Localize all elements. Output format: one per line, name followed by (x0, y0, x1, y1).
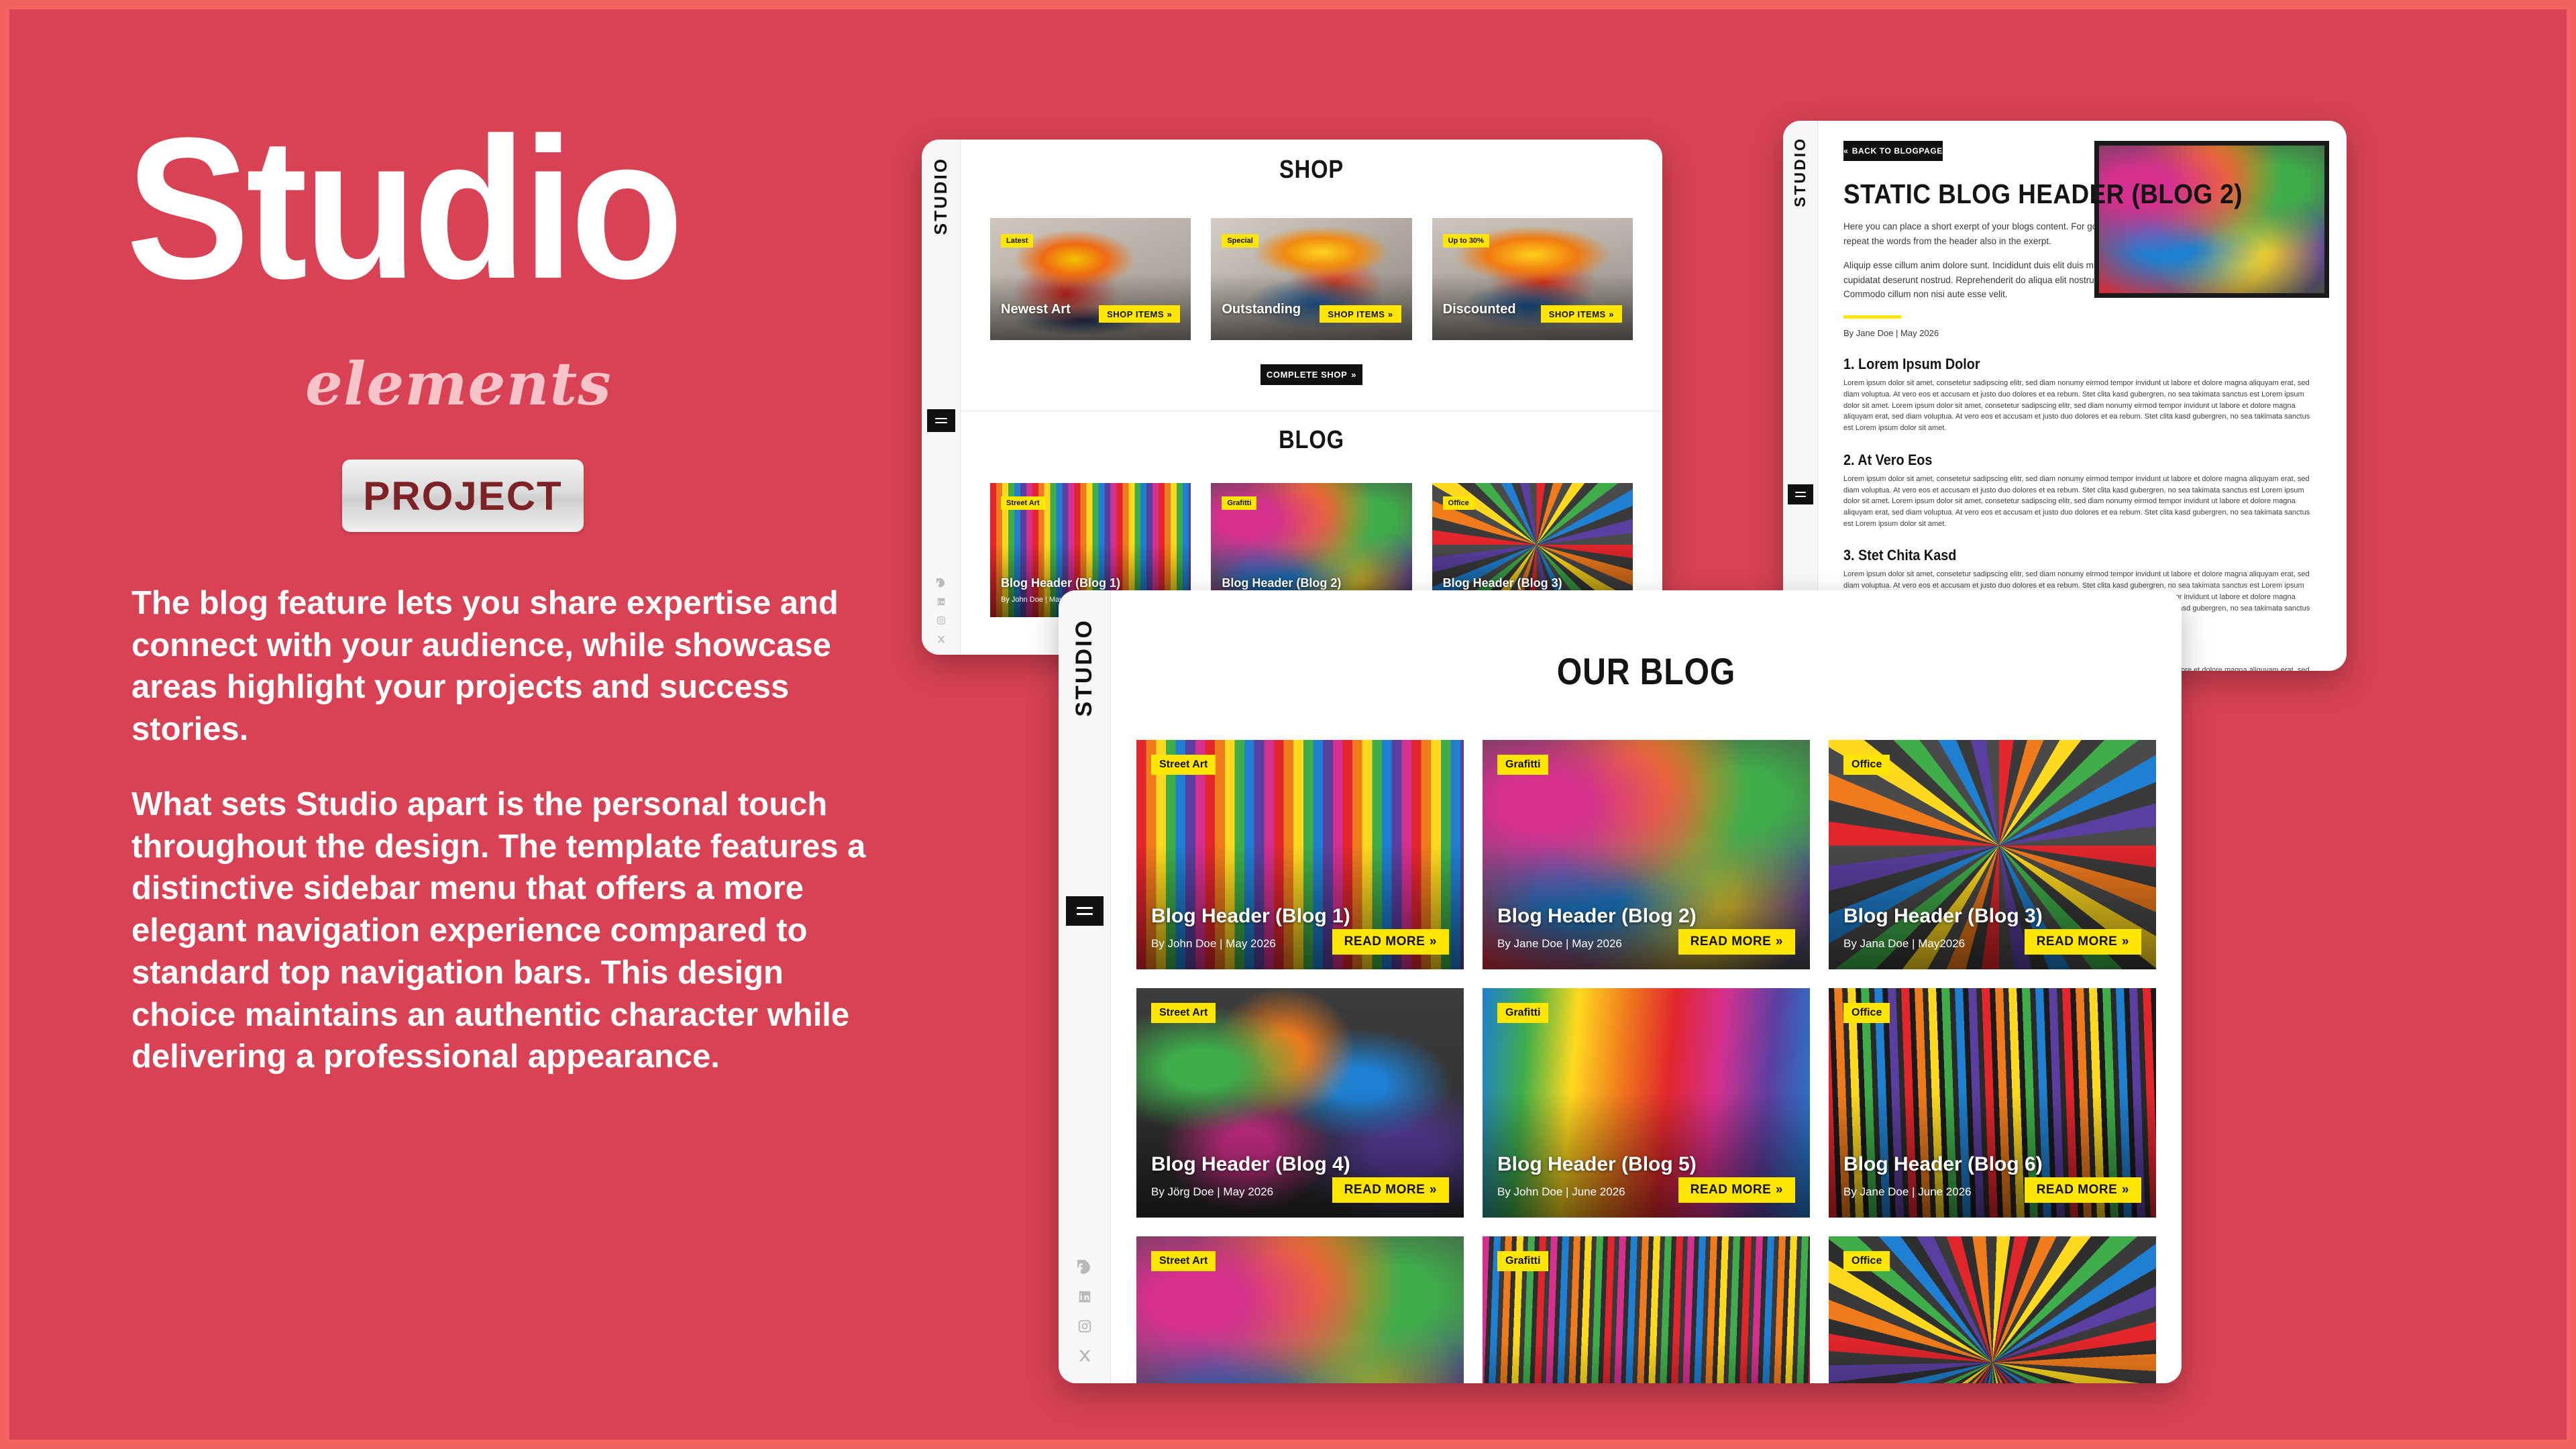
section-divider (961, 411, 1662, 411)
blog-card-meta: By Jane Doe | May 2026 (1497, 937, 1622, 951)
read-more-button[interactable]: READ MORE » (2025, 1177, 2141, 1203)
sidebar-brand: STUDIO (1071, 619, 1097, 716)
shop-browser-window: STUDIO SHOP Latest Newest Art SHOP ITEMS… (922, 140, 1662, 655)
chevron-right-icon: » (1776, 1183, 1783, 1197)
read-more-button[interactable]: READ MORE » (1678, 1177, 1795, 1203)
facebook-icon[interactable] (936, 578, 946, 588)
blog-card-title: Blog Header (Blog 1) (1151, 905, 1350, 928)
blog-card-tag: Street Art (1151, 755, 1216, 775)
chevron-right-icon: » (1776, 934, 1783, 949)
article-byline: By Jane Doe | May 2026 (1843, 328, 2321, 338)
blog-card-title: Blog Header (Blog 4) (1151, 1153, 1350, 1176)
blog-card-tag: Street Art (1001, 496, 1045, 510)
blog-card-tag: Office (1843, 1003, 1890, 1023)
blog-card-tag: Grafitti (1497, 1003, 1548, 1023)
hero-paragraph-1: The blog feature lets you share expertis… (131, 582, 876, 751)
shop-card[interactable]: Special Outstanding SHOP ITEMS » (1211, 218, 1411, 340)
instagram-icon[interactable] (1077, 1319, 1092, 1334)
article-section-body: Lorem ipsum dolor sit amet, consetetur s… (1843, 378, 2321, 434)
chevron-right-icon: » (1351, 370, 1356, 380)
instagram-icon[interactable] (936, 616, 946, 625)
article-section-heading: 1. Lorem Ipsum Dolor (1843, 356, 2273, 373)
chevron-right-icon: » (2122, 934, 2129, 949)
x-icon[interactable] (1077, 1348, 1092, 1363)
shop-card-title: Newest Art (1001, 302, 1071, 317)
blog-card-tag: Grafitti (1222, 496, 1256, 510)
our-blog-section-title: OUR BLOG (1186, 649, 2107, 693)
shop-card-title: Outstanding (1222, 302, 1301, 317)
blog-card[interactable]: Street Art (1136, 1236, 1464, 1383)
blog-card[interactable]: Grafitti (1483, 1236, 1810, 1383)
shop-items-label: SHOP ITEMS (1107, 309, 1164, 319)
chevron-right-icon: » (1167, 309, 1173, 319)
blog-card-meta: By John Doe | June 2026 (1497, 1185, 1625, 1199)
read-more-label: READ MORE (1690, 934, 1772, 949)
hamburger-icon[interactable] (927, 409, 955, 432)
hero-panel: Studio elements PROJECT The blog feature… (0, 0, 939, 1449)
shop-card-tag: Special (1222, 234, 1258, 248)
brand-subtitle: elements (305, 349, 612, 419)
blog-card-title: Blog Header (Blog 2) (1497, 905, 1697, 928)
social-links (936, 578, 946, 644)
sidebar: STUDIO (922, 140, 961, 655)
blog-card-tag: Street Art (1151, 1003, 1216, 1023)
sidebar-brand: STUDIO (1791, 137, 1809, 207)
blog-card[interactable]: Street Art Blog Header (Blog 4) By Jörg … (1136, 988, 1464, 1218)
article-hero-image (2094, 141, 2329, 298)
read-more-button[interactable]: READ MORE » (1332, 929, 1449, 955)
article-section: 2. At Vero Eos Lorem ipsum dolor sit ame… (1843, 451, 2321, 530)
blog-card-meta: By John Doe | May 2026 (1151, 937, 1276, 951)
blog-card-title: Blog Header (Blog 6) (1843, 1153, 2043, 1176)
article-section-body: Lorem ipsum dolor sit amet, consetetur s… (1843, 474, 2321, 530)
chevron-right-icon: » (1388, 309, 1393, 319)
read-more-button[interactable]: READ MORE » (1332, 1177, 1449, 1203)
blog-card-tag: Grafitti (1497, 755, 1548, 775)
blog-card-meta: By Jörg Doe | May 2026 (1151, 1185, 1273, 1199)
blog-card-tag: Office (1443, 496, 1474, 510)
shop-card-tag: Up to 30% (1443, 234, 1489, 248)
linkedin-icon[interactable] (936, 597, 946, 606)
chevron-right-icon: » (2122, 1183, 2129, 1197)
read-more-label: READ MORE (1344, 934, 1426, 949)
complete-shop-button[interactable]: COMPLETE SHOP » (1260, 364, 1362, 385)
blog-card-tag: Grafitti (1497, 1251, 1548, 1271)
blog-card[interactable]: Office Blog Header (Blog 3) By Jana Doe … (1829, 740, 2156, 969)
shop-items-button[interactable]: SHOP ITEMS » (1320, 305, 1401, 323)
shop-card-title: Discounted (1443, 302, 1516, 317)
shop-items-label: SHOP ITEMS (1328, 309, 1385, 319)
shop-section-title: SHOP (1010, 156, 1613, 184)
blog-card-title: Blog Header (Blog 2) (1222, 576, 1341, 590)
article-section-heading: 3. Stet Chita Kasd (1843, 547, 2273, 564)
chevron-right-icon: » (1430, 934, 1437, 949)
chevron-right-icon: » (1609, 309, 1614, 319)
shop-items-button[interactable]: SHOP ITEMS » (1541, 305, 1622, 323)
blog-card-meta: By Jane Doe | June 2026 (1843, 1185, 1972, 1199)
read-more-button[interactable]: READ MORE » (1678, 929, 1795, 955)
blog-card-title: Blog Header (Blog 3) (1843, 905, 2043, 928)
static-blog-browser-window: STUDIO « BACK TO BLOGPAGE STATIC BLOG HE… (1783, 121, 2347, 671)
read-more-label: READ MORE (1690, 1183, 1772, 1197)
shop-card[interactable]: Latest Newest Art SHOP ITEMS » (990, 218, 1191, 340)
blog-section-title: BLOG (1010, 426, 1613, 455)
sidebar-brand: STUDIO (930, 157, 951, 235)
read-more-label: READ MORE (2037, 1183, 2118, 1197)
blog-card-tag: Office (1843, 755, 1890, 775)
static-blog-page: « BACK TO BLOGPAGE STATIC BLOG HEADER (B… (1818, 121, 2347, 671)
brand-title: Studio (126, 113, 680, 304)
sidebar: STUDIO (1059, 590, 1111, 1383)
chevron-left-icon: « (1843, 146, 1848, 156)
blog-card-meta: By Jana Doe | May2026 (1843, 937, 1965, 951)
blog-card[interactable]: Grafitti Blog Header (Blog 5) By John Do… (1483, 988, 1810, 1218)
read-more-button[interactable]: READ MORE » (2025, 929, 2141, 955)
hero-paragraph-2: What sets Studio apart is the personal t… (131, 784, 876, 1078)
social-links (1077, 1260, 1092, 1363)
blog-card[interactable]: Office Blog Header (Blog 6) By Jane Doe … (1829, 988, 2156, 1218)
back-button-label: BACK TO BLOGPAGE (1852, 146, 1943, 156)
shop-card-tag: Latest (1001, 234, 1033, 248)
shop-card[interactable]: Up to 30% Discounted SHOP ITEMS » (1432, 218, 1633, 340)
blog-card-title: Blog Header (Blog 1) (1001, 576, 1120, 590)
article-section: 1. Lorem Ipsum Dolor Lorem ipsum dolor s… (1843, 356, 2321, 434)
read-more-label: READ MORE (2037, 934, 2118, 949)
complete-shop-label: COMPLETE SHOP (1267, 370, 1347, 380)
hamburger-icon[interactable] (1788, 484, 1813, 504)
shop-card-row: Latest Newest Art SHOP ITEMS » Special O… (961, 218, 1662, 340)
back-to-blogpage-button[interactable]: « BACK TO BLOGPAGE (1843, 141, 1943, 161)
our-blog-browser-window: STUDIO OUR BLOG Street Art Blog Header (… (1059, 590, 2182, 1383)
blog-card-title: Blog Header (Blog 5) (1497, 1153, 1697, 1176)
blog-card-grid: Street Art Blog Header (Blog 1) By John … (1111, 740, 2182, 1383)
project-badge: PROJECT (342, 460, 584, 532)
blog-card-tag: Office (1843, 1251, 1890, 1271)
blog-card[interactable]: Office (1829, 1236, 2156, 1383)
facebook-icon[interactable] (1077, 1260, 1092, 1275)
chevron-right-icon: » (1430, 1183, 1437, 1197)
linkedin-icon[interactable] (1077, 1289, 1092, 1304)
sidebar: STUDIO (1783, 121, 1818, 671)
project-badge-label: PROJECT (363, 473, 562, 519)
blog-card-tag: Street Art (1151, 1251, 1216, 1271)
our-blog-page: OUR BLOG Street Art Blog Header (Blog 1)… (1111, 590, 2182, 1383)
blog-card-title: Blog Header (Blog 3) (1443, 576, 1562, 590)
read-more-label: READ MORE (1344, 1183, 1426, 1197)
accent-rule (1843, 315, 1901, 319)
x-icon[interactable] (936, 635, 946, 644)
blog-card[interactable]: Street Art Blog Header (Blog 1) By John … (1136, 740, 1464, 969)
article-section-heading: 2. At Vero Eos (1843, 451, 2273, 469)
shop-items-button[interactable]: SHOP ITEMS » (1099, 305, 1180, 323)
shop-items-label: SHOP ITEMS (1549, 309, 1606, 319)
hamburger-icon[interactable] (1066, 896, 1104, 926)
article-title: STATIC BLOG HEADER (BLOG 2) (1843, 178, 2273, 210)
blog-card[interactable]: Grafitti Blog Header (Blog 2) By Jane Do… (1483, 740, 1810, 969)
shop-page: SHOP Latest Newest Art SHOP ITEMS » Spec… (961, 140, 1662, 655)
